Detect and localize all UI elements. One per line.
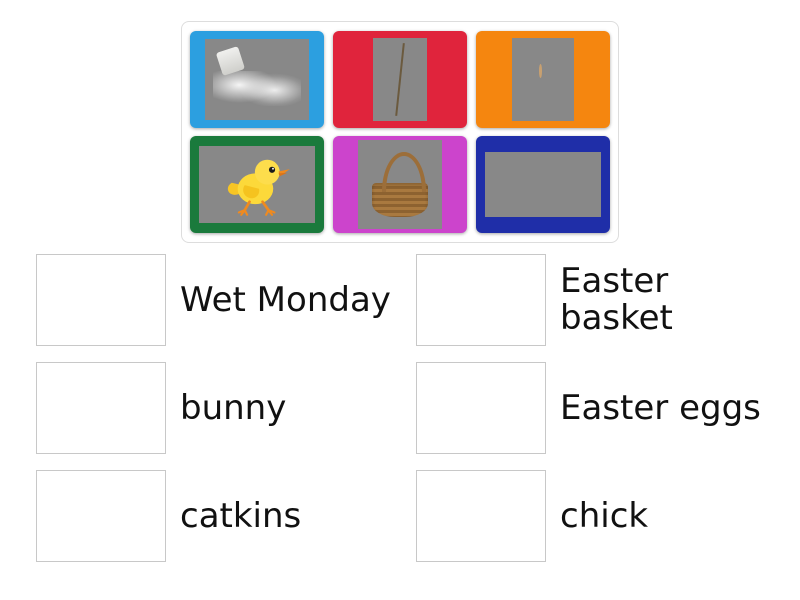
tile-easter-eggs[interactable] — [476, 136, 610, 233]
wet-monday-photo — [205, 39, 310, 120]
tile-bunny[interactable] — [476, 31, 610, 128]
answer-row: chick — [400, 468, 800, 564]
tile-chick[interactable] — [190, 136, 324, 233]
easter-basket-photo — [358, 140, 441, 229]
drop-zone-chick[interactable] — [416, 470, 546, 562]
chick-illustration — [199, 146, 314, 224]
image-tile-bank — [181, 21, 619, 243]
answer-label: Easter basket — [560, 263, 790, 336]
easter-eggs-photo — [485, 152, 600, 216]
answer-label: chick — [560, 498, 648, 535]
drop-zone-bunny[interactable] — [36, 362, 166, 454]
drop-zone-catkins[interactable] — [36, 470, 166, 562]
answer-label: Wet Monday — [180, 282, 391, 319]
answer-row: Wet Monday — [0, 252, 400, 348]
answer-grid: Wet Monday Easter basket bunny Easter eg… — [0, 252, 800, 564]
match-up-activity: Wet Monday Easter basket bunny Easter eg… — [0, 0, 800, 600]
catkins-photo — [373, 38, 427, 121]
answer-row: Easter basket — [400, 252, 800, 348]
tile-easter-basket[interactable] — [333, 136, 467, 233]
drop-zone-wet-monday[interactable] — [36, 254, 166, 346]
drop-zone-easter-eggs[interactable] — [416, 362, 546, 454]
answer-row: catkins — [0, 468, 400, 564]
answer-label: catkins — [180, 498, 301, 535]
answer-row: Easter eggs — [400, 360, 800, 456]
bunny-photo — [512, 38, 575, 121]
answer-label: bunny — [180, 390, 286, 427]
tile-wet-monday[interactable] — [190, 31, 324, 128]
drop-zone-easter-basket[interactable] — [416, 254, 546, 346]
answer-row: bunny — [0, 360, 400, 456]
tile-catkins[interactable] — [333, 31, 467, 128]
answer-label: Easter eggs — [560, 390, 761, 427]
chick-icon — [214, 152, 299, 217]
